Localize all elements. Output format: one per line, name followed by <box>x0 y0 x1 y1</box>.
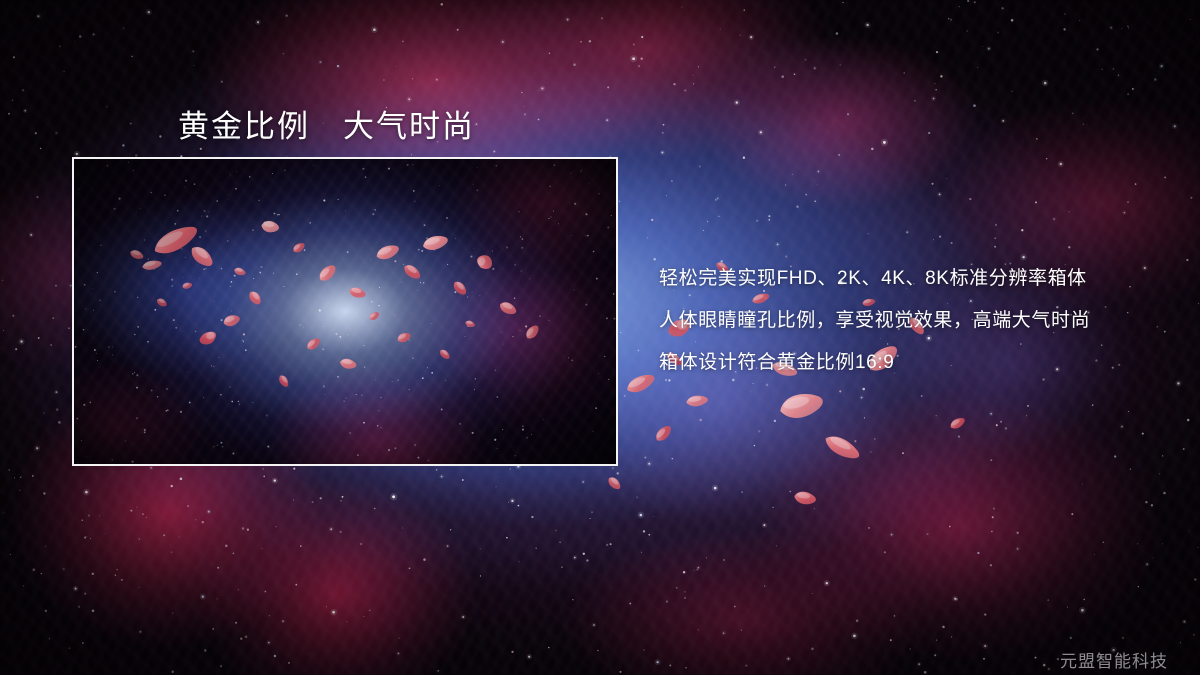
body-line-1: 轻松完美实现FHD、2K、4K、8K标准分辨率箱体 <box>659 258 1179 300</box>
body-line-2: 人体眼睛瞳孔比例，享受视觉效果，高端大气时尚 <box>659 300 1179 342</box>
slide-title: 黄金比例 大气时尚 <box>178 101 475 146</box>
framed-image-content <box>74 159 616 464</box>
presentation-slide: 黄金比例 大气时尚 轻松完美实现FHD、2K、4K、8K标准分辨率箱体 人体眼睛… <box>0 0 1200 675</box>
framed-vignette <box>74 159 616 464</box>
company-watermark: 元盟智能科技 <box>1060 647 1168 672</box>
body-text-block: 轻松完美实现FHD、2K、4K、8K标准分辨率箱体 人体眼睛瞳孔比例，享受视觉效… <box>659 258 1179 384</box>
body-line-3: 箱体设计符合黄金比例16:9 <box>659 342 1179 384</box>
framed-image-panel <box>72 157 618 466</box>
